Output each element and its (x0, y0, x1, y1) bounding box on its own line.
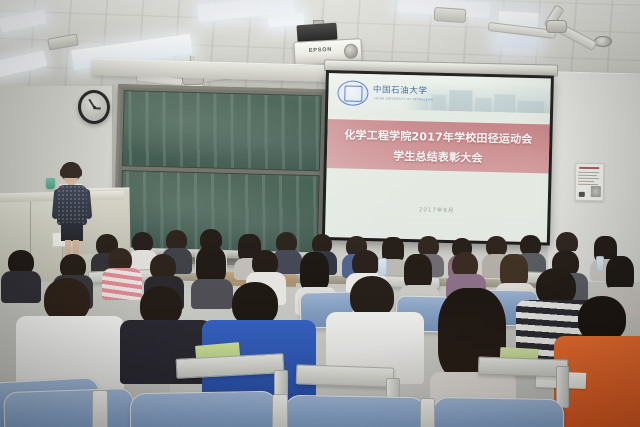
seat-back[interactable] (3, 388, 135, 427)
desk-surface (296, 364, 395, 387)
wall-notice-poster (575, 163, 605, 202)
water-bottle (596, 256, 604, 272)
seat-frame (272, 394, 288, 427)
seat-back[interactable] (284, 395, 427, 427)
water-bottle (378, 258, 387, 276)
projector-brand-label: EPSON (309, 47, 333, 54)
seat-back[interactable] (130, 391, 279, 427)
projector-lens (344, 43, 359, 59)
seat-frame (92, 390, 108, 427)
seat-frame (420, 398, 435, 427)
screen-glare (325, 73, 551, 242)
projection-screen[interactable]: 中国石油大学 CHINA UNIVERSITY OF PETROLEUM 化学工… (322, 70, 554, 246)
ceiling-fan-icon (482, 6, 606, 56)
classroom-photo: EPSON (0, 0, 640, 427)
desk-surface (478, 356, 569, 377)
blackboard-panel-upper (122, 90, 322, 171)
presentation-slide: 中国石油大学 CHINA UNIVERSITY OF PETROLEUM 化学工… (325, 73, 551, 242)
ceiling-speaker-icon (434, 7, 467, 23)
seat-back[interactable] (432, 397, 565, 427)
